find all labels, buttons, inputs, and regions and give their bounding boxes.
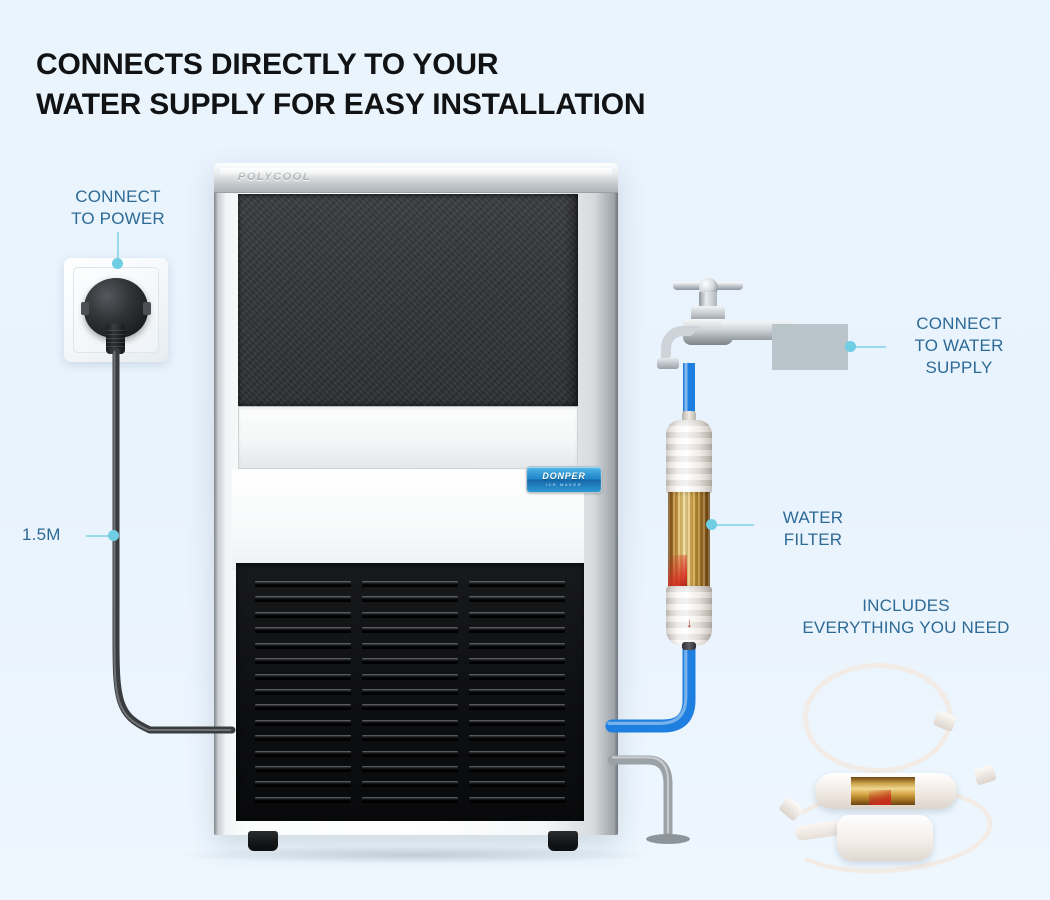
grille-louver [362, 643, 458, 649]
grille-louver [362, 674, 458, 680]
page-title: CONNECTS DIRECTLY TO YOUR WATER SUPPLY F… [36, 45, 756, 125]
donper-logo-badge: DONPER ICE MAKER [526, 466, 602, 493]
water-filter-icon: ↓ [666, 420, 712, 646]
leader-dot-water-filter [706, 519, 717, 530]
grille-louver [469, 735, 565, 741]
filter-core-ribs [668, 492, 710, 588]
leader-dot-power [112, 258, 123, 269]
power-outlet-icon [64, 258, 168, 362]
drain-floor-flange [646, 834, 690, 844]
grille-louver [469, 751, 565, 757]
machine-door-handle-recess [238, 406, 578, 469]
infographic-canvas: CONNECTS DIRECTLY TO YOUR WATER SUPPLY F… [0, 0, 1050, 900]
grille-louver [469, 797, 565, 803]
grille-louver [255, 689, 351, 695]
leader-line-water-supply [852, 346, 886, 348]
kit-cartridge-core [851, 777, 915, 805]
filter-upper-housing [666, 420, 712, 494]
grille-louver [362, 735, 458, 741]
grille-louver [255, 581, 351, 587]
grille-louver [469, 612, 565, 618]
filter-outlet [682, 642, 696, 650]
ice-maker-machine: POLYCOOL DONPER ICE MAKER [214, 163, 618, 835]
kit-coiled-hose [803, 663, 953, 773]
callout-connect-to-power: CONNECT TO POWER [58, 186, 178, 230]
grille-louver [362, 612, 458, 618]
machine-top-bezel: POLYCOOL [214, 163, 618, 193]
headline-line-2: WATER SUPPLY FOR EASY INSTALLATION [36, 85, 756, 125]
grille-louver [255, 797, 351, 803]
grille-louver [469, 627, 565, 633]
headline-line-1: CONNECTS DIRECTLY TO YOUR [36, 48, 498, 81]
grille-louver [362, 581, 458, 587]
grille-louver [469, 596, 565, 602]
callout-cord-length: 1.5M [22, 524, 88, 546]
grille-louver [469, 674, 565, 680]
water-supply-connector-block [772, 324, 848, 370]
faucet-spout-outlet [657, 358, 679, 369]
filter-media-core [668, 492, 710, 588]
badge-brand-text: DONPER [542, 472, 585, 481]
grille-louver [362, 658, 458, 664]
callout-connect-to-water-supply: CONNECT TO WATER SUPPLY [884, 313, 1034, 378]
grille-louver [362, 689, 458, 695]
grille-louver [255, 612, 351, 618]
grille-column [469, 581, 565, 803]
grille-louver [255, 766, 351, 772]
grille-louver [469, 766, 565, 772]
grille-louver [362, 781, 458, 787]
grille-louver [469, 581, 565, 587]
grille-louver [255, 658, 351, 664]
grille-louver [255, 627, 351, 633]
machine-vent-grille [236, 563, 584, 821]
ice-scoop-icon [837, 815, 933, 861]
grille-louver [255, 596, 351, 602]
grille-louver [469, 643, 565, 649]
grille-louver [255, 751, 351, 757]
grille-louver [362, 720, 458, 726]
grille-louver [255, 781, 351, 787]
accessory-kit [775, 655, 1035, 880]
grille-louver [255, 735, 351, 741]
machine-upper-door [238, 194, 578, 406]
grille-louver [362, 797, 458, 803]
leader-dot-water-supply [845, 341, 856, 352]
grille-louver [362, 627, 458, 633]
filter-flow-arrow-icon: ↓ [686, 616, 691, 630]
callout-water-filter: WATER FILTER [753, 507, 873, 551]
grille-column [362, 581, 458, 803]
leader-dot-cord-length [108, 530, 119, 541]
grille-louver [362, 596, 458, 602]
badge-sub-text: ICE MAKER [546, 483, 582, 487]
grille-louver [469, 720, 565, 726]
leader-line-water-filter [716, 524, 754, 526]
grille-louver [362, 751, 458, 757]
grille-louver [469, 689, 565, 695]
grille-louver [362, 766, 458, 772]
grille-louver [469, 781, 565, 787]
polycool-brand-text: POLYCOOL [238, 171, 311, 183]
kit-filter-cartridge [815, 773, 957, 809]
grille-louver [362, 704, 458, 710]
grille-louver [469, 704, 565, 710]
kit-fitting [973, 764, 997, 785]
grille-louver [255, 704, 351, 710]
grille-louver [255, 674, 351, 680]
grille-column [255, 581, 351, 803]
grille-louver [255, 720, 351, 726]
plug-cord-neck [106, 324, 125, 354]
grille-louver [255, 643, 351, 649]
grille-louver [469, 658, 565, 664]
machine-floor-shadow [180, 846, 650, 864]
callout-includes-everything: INCLUDES EVERYTHING YOU NEED [782, 595, 1030, 639]
